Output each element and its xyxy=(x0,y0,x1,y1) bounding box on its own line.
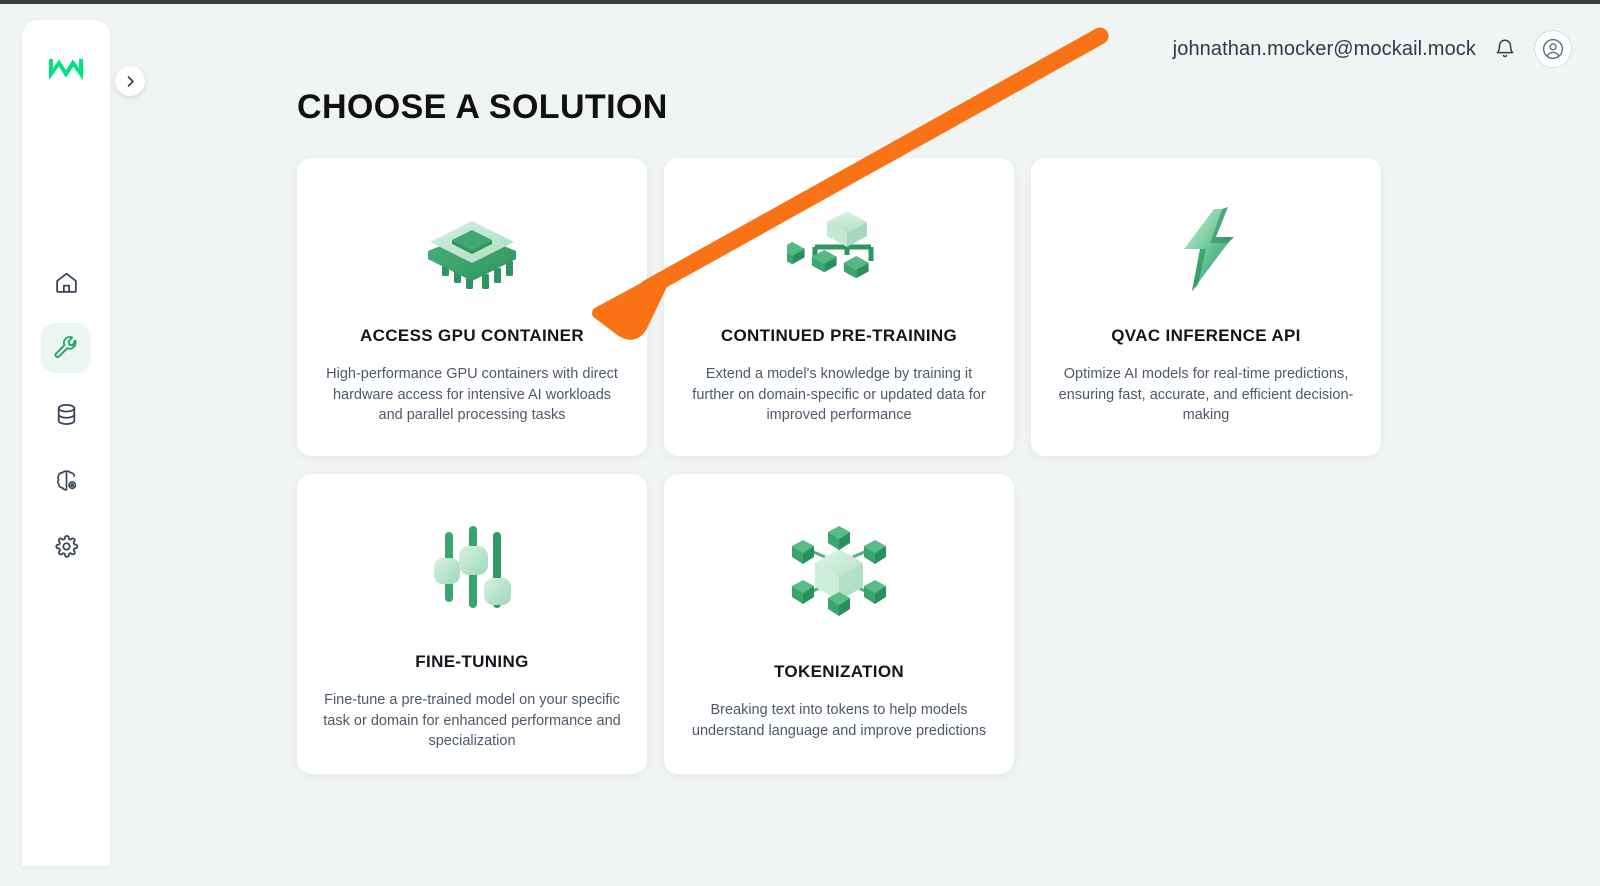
solution-card-fine-tuning[interactable]: FINE-TUNING Fine-tune a pre-trained mode… xyxy=(297,474,647,774)
sidebar-item-home[interactable] xyxy=(41,257,91,307)
user-email-label: johnathan.mocker@mockail.mock xyxy=(1173,38,1476,61)
sidebar-item-settings[interactable] xyxy=(41,521,91,571)
sidebar-collapse-button[interactable] xyxy=(115,66,145,96)
page-title: CHOOSE A SOLUTION xyxy=(297,88,1381,127)
solution-card-continued-pre-training[interactable]: CONTINUED PRE-TRAINING Extend a model's … xyxy=(664,158,1014,456)
solution-card-grid: ACCESS GPU CONTAINER High-performance GP… xyxy=(297,158,1381,774)
sidebar-item-solutions[interactable] xyxy=(41,323,91,373)
card-title: FINE-TUNING xyxy=(415,652,528,672)
cube-network-icon xyxy=(784,518,894,628)
browser-chrome-strip xyxy=(0,0,1600,4)
app-root: johnathan.mocker@mockail.mock CHOOSE A S… xyxy=(0,0,1600,886)
node-tree-icon xyxy=(784,202,894,300)
card-title: QVAC INFERENCE API xyxy=(1111,326,1301,346)
card-title: TOKENIZATION xyxy=(774,662,904,682)
sidebar xyxy=(22,20,110,866)
bell-icon[interactable] xyxy=(1490,34,1520,64)
solution-card-qvac-inference-api[interactable]: QVAC INFERENCE API Optimize AI models fo… xyxy=(1031,158,1381,456)
solution-card-access-gpu-container[interactable]: ACCESS GPU CONTAINER High-performance GP… xyxy=(297,158,647,456)
gpu-chip-icon xyxy=(417,202,527,300)
qvac-infinity-logo[interactable] xyxy=(45,54,87,82)
solution-card-tokenization[interactable]: TOKENIZATION Breaking text into tokens t… xyxy=(664,474,1014,774)
lightning-bolt-icon xyxy=(1151,202,1261,300)
main-content: CHOOSE A SOLUTION xyxy=(297,88,1381,774)
card-description: Optimize AI models for real-time predict… xyxy=(1055,364,1357,426)
sidebar-item-models[interactable] xyxy=(41,455,91,505)
card-description: Fine-tune a pre-trained model on your sp… xyxy=(321,690,623,752)
sidebar-item-datasets[interactable] xyxy=(41,389,91,439)
card-description: Extend a model's knowledge by training i… xyxy=(688,364,990,426)
card-description: High-performance GPU containers with dir… xyxy=(321,364,623,426)
sliders-icon xyxy=(417,518,527,618)
header-bar: johnathan.mocker@mockail.mock xyxy=(1173,30,1572,68)
card-title: CONTINUED PRE-TRAINING xyxy=(721,326,957,346)
sidebar-nav-list xyxy=(41,257,91,571)
user-avatar-icon[interactable] xyxy=(1534,30,1572,68)
card-description: Breaking text into tokens to help models… xyxy=(688,700,990,741)
card-title: ACCESS GPU CONTAINER xyxy=(360,326,584,346)
